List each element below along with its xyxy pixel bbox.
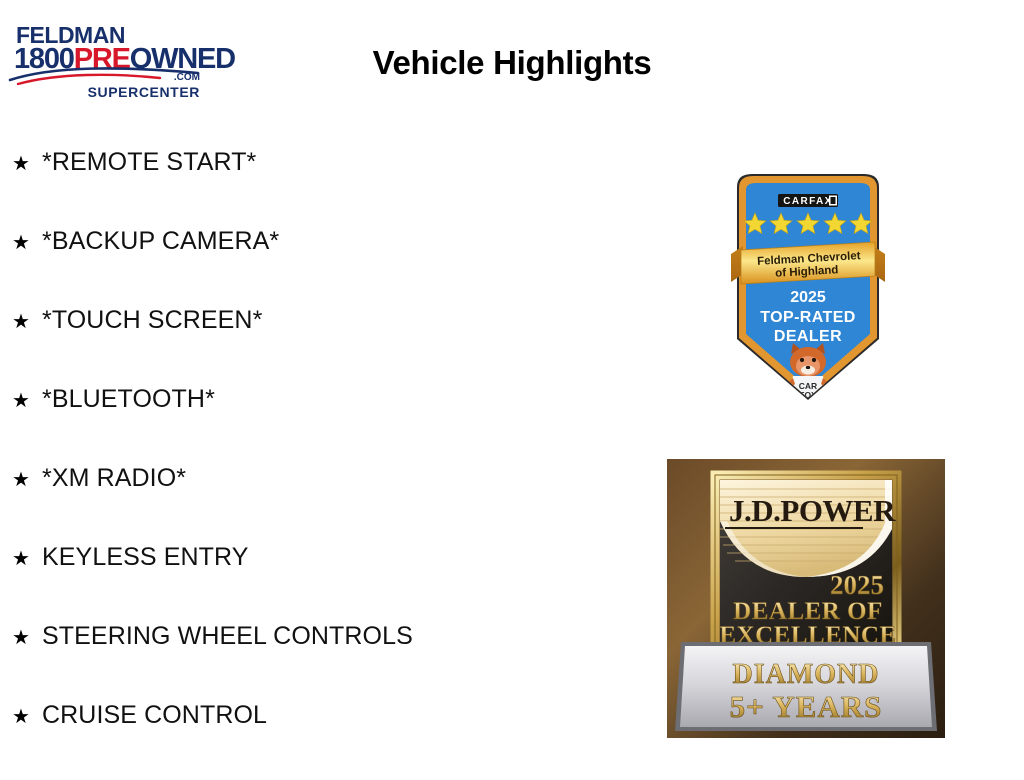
- star-bullet-icon: ★: [12, 628, 42, 648]
- award-duration: 5+ YEARS: [730, 689, 883, 724]
- star-bullet-icon: ★: [12, 391, 42, 411]
- star-bullet-icon: ★: [12, 470, 42, 490]
- highlight-label: KEYLESS ENTRY: [42, 543, 248, 572]
- highlight-label: *XM RADIO*: [42, 464, 186, 493]
- list-item: ★ STEERING WHEEL CONTROLS: [12, 622, 652, 701]
- star-bullet-icon: ★: [12, 312, 42, 332]
- award-title-line-1: DEALER OF: [733, 598, 883, 625]
- carfax-shield-graphic: CARFAX Feldman Chevrolet of Highland 202…: [731, 170, 885, 404]
- highlight-label: STEERING WHEEL CONTROLS: [42, 622, 413, 651]
- logo-supercenter-text: SUPERCENTER: [88, 84, 200, 100]
- highlight-label: *TOUCH SCREEN*: [42, 306, 262, 335]
- highlight-label: CRUISE CONTROL: [42, 701, 267, 730]
- star-bullet-icon: ★: [12, 707, 42, 727]
- list-item: ★ *TOUCH SCREEN*: [12, 306, 652, 385]
- list-item: ★ KEYLESS ENTRY: [12, 543, 652, 622]
- star-bullet-icon: ★: [12, 549, 42, 569]
- jdpower-dealer-of-excellence-award: J.D.POWER 2025 DEALER OF EXCELLENCE DIAM…: [667, 459, 945, 738]
- award-year: 2025: [790, 289, 826, 306]
- award-base: DIAMOND 5+ YEARS: [675, 642, 937, 731]
- star-bullet-icon: ★: [12, 233, 42, 253]
- list-item: ★ *XM RADIO*: [12, 464, 652, 543]
- list-item: ★ CRUISE CONTROL: [12, 701, 652, 780]
- jdpower-plaque-graphic: J.D.POWER 2025 DEALER OF EXCELLENCE DIAM…: [667, 459, 945, 738]
- highlight-label: *BLUETOOTH*: [42, 385, 215, 414]
- page-title: Vehicle Highlights: [0, 44, 1024, 82]
- star-bullet-icon: ★: [12, 154, 42, 174]
- vehicle-highlights-list: ★ *REMOTE START* ★ *BACKUP CAMERA* ★ *TO…: [12, 148, 652, 780]
- carfax-wordmark: CARFAX: [778, 194, 838, 207]
- list-item: ★ *BLUETOOTH*: [12, 385, 652, 464]
- highlight-label: *REMOTE START*: [42, 148, 256, 177]
- highlight-label: *BACKUP CAMERA*: [42, 227, 279, 256]
- award-tier: DIAMOND: [733, 659, 880, 690]
- svg-text:CARFAX: CARFAX: [783, 196, 833, 207]
- list-item: ★ *BACKUP CAMERA*: [12, 227, 652, 306]
- list-item: ★ *REMOTE START*: [12, 148, 652, 227]
- svg-text:J.D.POWER: J.D.POWER: [729, 493, 896, 528]
- award-line-1: TOP-RATED: [760, 309, 855, 326]
- jdpower-brand-text: J.D.POWER: [725, 493, 896, 528]
- award-line-2: DEALER: [774, 328, 842, 345]
- award-year: 2025: [830, 570, 884, 600]
- carfax-top-rated-dealer-badge: CARFAX Feldman Chevrolet of Highland 202…: [731, 170, 885, 404]
